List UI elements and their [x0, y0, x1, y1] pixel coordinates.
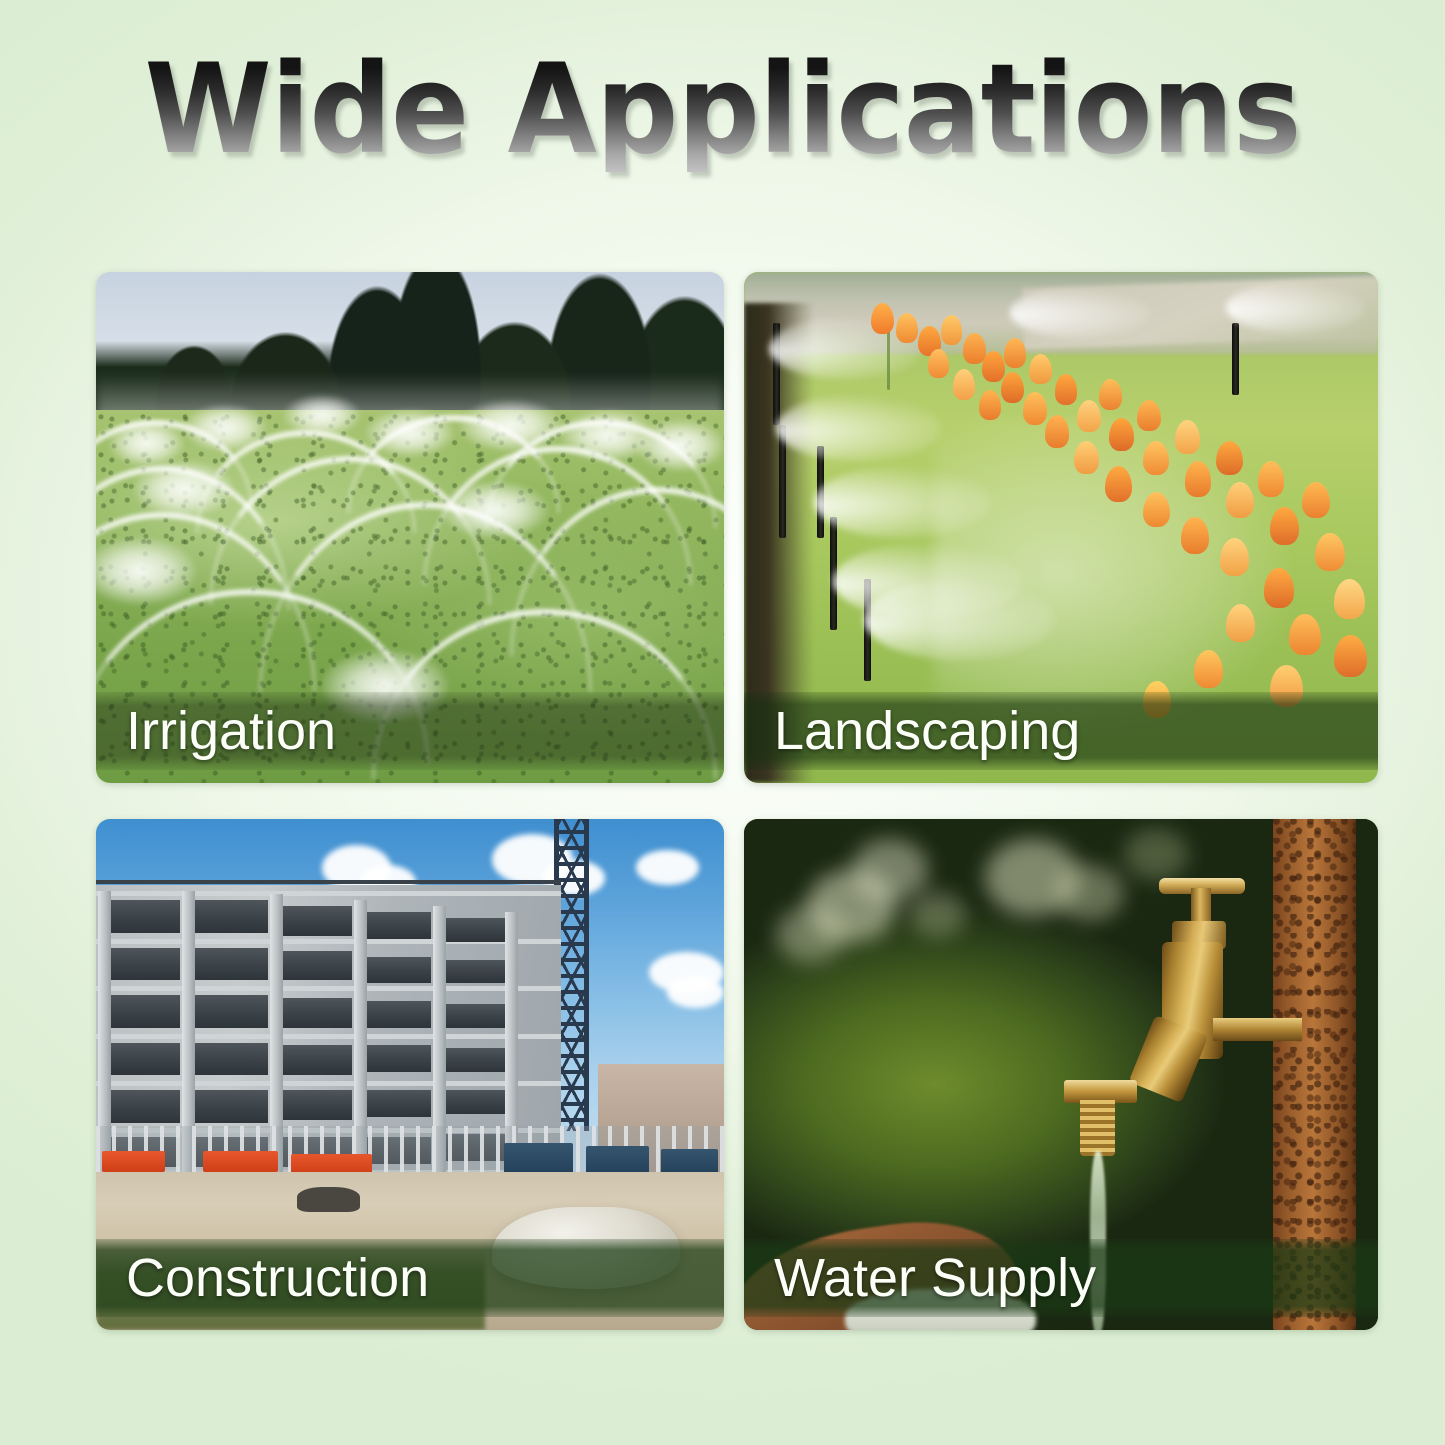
window-bay — [282, 1045, 352, 1075]
application-card-irrigation[interactable]: Irrigation — [96, 272, 724, 783]
window-bay — [282, 951, 352, 981]
floor-slab — [96, 891, 561, 896]
tulip-bloom — [1264, 568, 1294, 608]
application-card-construction[interactable]: Construction — [96, 819, 724, 1330]
tulip-bloom — [1055, 374, 1078, 405]
tulip-bloom — [1194, 650, 1223, 688]
sprinkler-spray — [441, 482, 548, 538]
tulip-bloom — [1216, 441, 1243, 476]
safety-barrier — [203, 1151, 278, 1171]
construction-photo: Construction — [96, 819, 724, 1330]
bokeh-circle — [776, 906, 846, 962]
window-bay — [105, 900, 179, 933]
tulip-bloom — [982, 351, 1005, 382]
window-bay — [445, 1004, 505, 1028]
material-skip — [586, 1146, 649, 1174]
bokeh-circle — [1055, 865, 1125, 921]
tulip-bloom — [1137, 400, 1161, 432]
window-bay — [445, 1048, 505, 1072]
irrigation-photo: Irrigation — [96, 272, 724, 783]
tulip-bloom — [1074, 441, 1099, 475]
tulip-bloom — [896, 313, 918, 343]
window-bay — [366, 1045, 431, 1072]
construction-caption: Construction — [96, 1239, 724, 1317]
window-bay — [194, 900, 268, 933]
tulip-bloom — [1226, 604, 1255, 642]
tulip-bloom — [1109, 418, 1134, 452]
tulip-bloom — [1181, 517, 1209, 554]
window-bay — [282, 1090, 352, 1120]
sprinkler-spray — [134, 461, 234, 517]
roof-handrail — [96, 880, 561, 884]
tulip-bloom — [1334, 579, 1366, 620]
window-bay — [194, 995, 268, 1028]
tulip-bloom — [1045, 415, 1069, 448]
tulip-bloom — [1270, 507, 1299, 545]
window-bay — [366, 1090, 431, 1117]
tulip-bloom — [1258, 461, 1285, 497]
card-label-water-supply: Water Supply — [774, 1251, 1096, 1305]
window-bay — [194, 1090, 268, 1123]
tulip-bloom — [1029, 354, 1052, 385]
tulip-bloom — [1220, 538, 1249, 576]
tulip-bloom — [1334, 635, 1367, 677]
window-bay — [282, 906, 352, 936]
window-bay — [445, 960, 505, 984]
window-bay — [445, 1090, 505, 1114]
tulip-bloom — [1175, 420, 1200, 454]
poster-root: Wide Applications — [0, 0, 1445, 1445]
flower-stem — [887, 328, 890, 389]
tulip-bloom — [871, 303, 894, 335]
tap-inlet-pipe — [1213, 1018, 1302, 1041]
card-label-irrigation: Irrigation — [126, 704, 336, 758]
window-bay — [282, 998, 352, 1028]
tulip-bloom — [1315, 533, 1345, 572]
application-card-water-supply[interactable]: Water Supply — [744, 819, 1378, 1330]
cloud — [667, 977, 724, 1008]
tulip-bloom — [963, 333, 986, 364]
tulip-bloom — [1105, 466, 1132, 502]
sprinkler-spray — [284, 395, 359, 436]
floor-slab — [96, 1081, 561, 1086]
debris-mound — [297, 1187, 360, 1213]
window-bay — [105, 1090, 179, 1123]
material-skip — [661, 1149, 718, 1175]
tulip-bloom — [1226, 482, 1254, 519]
application-card-landscaping[interactable]: Landscaping — [744, 272, 1378, 783]
window-bay — [445, 918, 505, 942]
floor-slab — [96, 1034, 561, 1039]
tulip-bloom — [1143, 492, 1170, 528]
water-supply-caption: Water Supply — [744, 1239, 1378, 1317]
tap-hose-nozzle — [1080, 1100, 1115, 1156]
tulip-bloom — [1289, 614, 1321, 655]
tulip-bloom — [979, 390, 1002, 421]
tulip-bloom — [928, 349, 950, 379]
irrigation-caption: Irrigation — [96, 692, 724, 770]
tulip-bloom — [941, 315, 963, 345]
landscaping-caption: Landscaping — [744, 692, 1378, 770]
page-title-container: Wide Applications — [0, 48, 1445, 188]
tulip-bloom — [1023, 392, 1047, 425]
bokeh-circle — [909, 891, 966, 937]
card-label-landscaping: Landscaping — [774, 704, 1080, 758]
material-skip — [504, 1143, 573, 1174]
tulip-bloom — [1185, 461, 1212, 497]
tulip-bloom — [1004, 338, 1026, 368]
floor-slab — [96, 986, 561, 991]
window-bay — [366, 957, 431, 984]
tulip-bloom — [1302, 482, 1330, 519]
landscaping-photo: Landscaping — [744, 272, 1378, 783]
tulip-bloom — [1099, 379, 1122, 410]
window-bay — [194, 948, 268, 981]
tulip-bloom — [1077, 400, 1101, 433]
window-bay — [194, 1043, 268, 1076]
tulip-bloom — [1143, 441, 1168, 476]
window-bay — [366, 1001, 431, 1028]
window-bay — [366, 912, 431, 939]
tulip-bloom — [1001, 372, 1024, 404]
card-label-construction: Construction — [126, 1251, 429, 1305]
water-supply-photo: Water Supply — [744, 819, 1378, 1330]
application-cards-grid: Irrigation — [96, 272, 1378, 1330]
cloud — [636, 850, 699, 886]
safety-barrier — [102, 1151, 165, 1171]
window-bay — [105, 995, 179, 1028]
bokeh-circle — [852, 839, 928, 900]
window-bay — [105, 1043, 179, 1076]
tulip-bloom — [953, 369, 975, 400]
bokeh-circle — [1124, 829, 1187, 880]
page-title: Wide Applications — [144, 48, 1300, 172]
window-bay — [105, 948, 179, 981]
